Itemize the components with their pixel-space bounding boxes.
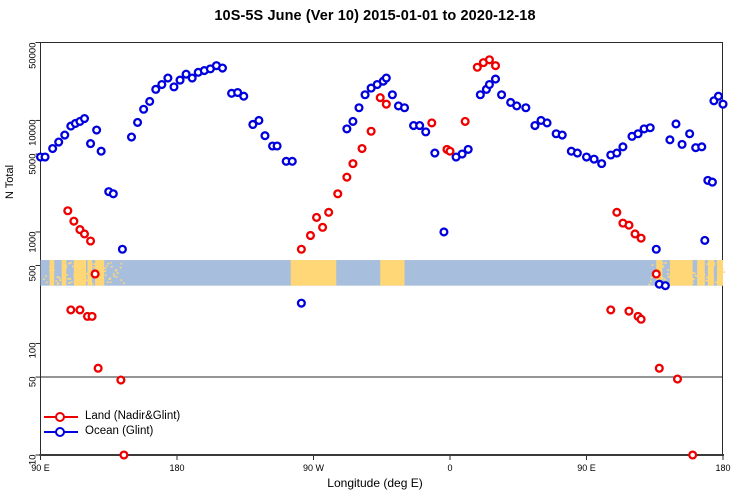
x-tick-label: 180 [147, 463, 207, 473]
x-tick-label: 90 E [557, 463, 617, 473]
legend-marker-ocean [44, 426, 78, 438]
legend-label-land: Land (Nadir&Glint) [85, 409, 180, 424]
legend-item-land[interactable]: Land (Nadir&Glint) [44, 409, 180, 424]
x-tick-label: 180 [693, 463, 750, 473]
y-tick-label: 5000 [28, 154, 39, 187]
y-tick-label: 100 [28, 343, 39, 376]
x-tick-label: 90 E [11, 463, 71, 473]
y-tick-label: 50 [28, 377, 39, 410]
y-tick-label: 500 [28, 265, 39, 298]
y-tick-label: 1000 [28, 231, 39, 264]
legend-label-ocean: Ocean (Glint) [85, 424, 153, 439]
x-tick-label: 90 W [284, 463, 344, 473]
y-tick-label: 50000 [28, 42, 39, 75]
legend-marker-land [44, 411, 78, 423]
y-tick-label: 10000 [28, 120, 39, 153]
x-tick-label: 0 [420, 463, 480, 473]
legend: Land (Nadir&Glint) Ocean (Glint) [44, 409, 180, 439]
legend-item-ocean[interactable]: Ocean (Glint) [44, 424, 180, 439]
